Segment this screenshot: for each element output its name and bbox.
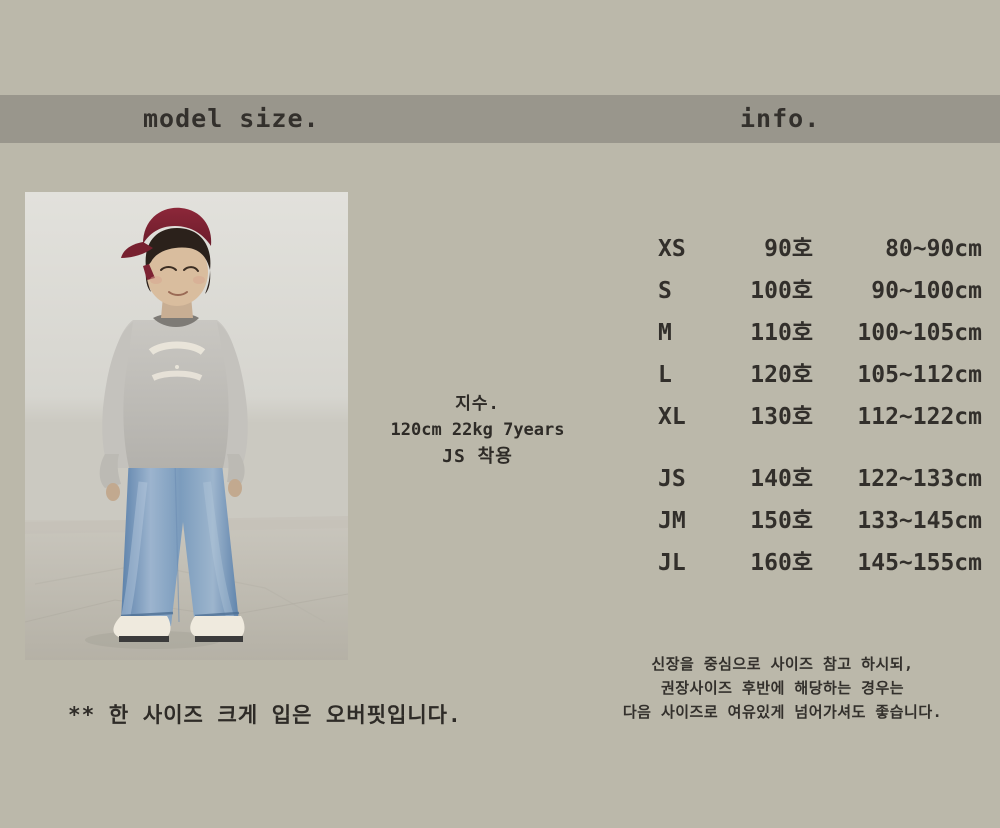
size-code: XL bbox=[658, 396, 718, 438]
size-range: 112~122cm bbox=[822, 396, 982, 438]
size-code: JL bbox=[658, 542, 718, 584]
size-code: JM bbox=[658, 500, 718, 542]
size-ho: 160호 bbox=[718, 542, 813, 584]
size-code: L bbox=[658, 354, 718, 396]
size-ho: 90호 bbox=[718, 228, 813, 270]
overfit-note: ** 한 사이즈 크게 입은 오버핏입니다. bbox=[68, 700, 462, 730]
size-range: 90~100cm bbox=[822, 270, 982, 312]
size-range: 133~145cm bbox=[822, 500, 982, 542]
model-caption: 지수. 120cm 22kg 7years JS 착용 bbox=[365, 392, 590, 471]
table-row: XS 90호 80~90cm bbox=[650, 228, 980, 270]
model-measurements: 120cm 22kg 7years bbox=[365, 417, 590, 443]
size-ho: 100호 bbox=[718, 270, 813, 312]
page-title-info: info. bbox=[740, 100, 820, 138]
page-title-model-size: model size. bbox=[143, 100, 320, 138]
size-range: 145~155cm bbox=[822, 542, 982, 584]
model-name: 지수. bbox=[365, 392, 590, 417]
sizing-guidance-line-2: 권장사이즈 후반에 해당하는 경우는 bbox=[585, 676, 980, 700]
size-ho: 150호 bbox=[718, 500, 813, 542]
sizing-guidance-note: 신장을 중심으로 사이즈 참고 하시되, 권장사이즈 후반에 해당하는 경우는 … bbox=[585, 652, 980, 724]
table-row: L 120호 105~112cm bbox=[650, 354, 980, 396]
table-row: S 100호 90~100cm bbox=[650, 270, 980, 312]
size-range: 100~105cm bbox=[822, 312, 982, 354]
model-photo bbox=[25, 192, 348, 660]
size-ho: 120호 bbox=[718, 354, 813, 396]
size-code: S bbox=[658, 270, 718, 312]
size-range: 122~133cm bbox=[822, 458, 982, 500]
size-ho: 130호 bbox=[718, 396, 813, 438]
size-guide-page: model size. info. bbox=[0, 0, 1000, 828]
size-code: XS bbox=[658, 228, 718, 270]
model-wearing-size: JS 착용 bbox=[365, 443, 590, 471]
table-row: JL 160호 145~155cm bbox=[650, 542, 980, 584]
table-row: JS 140호 122~133cm bbox=[650, 458, 980, 500]
size-code: M bbox=[658, 312, 718, 354]
size-range: 80~90cm bbox=[822, 228, 982, 270]
table-row: JM 150호 133~145cm bbox=[650, 500, 980, 542]
size-ho: 140호 bbox=[718, 458, 813, 500]
table-row: M 110호 100~105cm bbox=[650, 312, 980, 354]
size-code: JS bbox=[658, 458, 718, 500]
size-range: 105~112cm bbox=[822, 354, 982, 396]
size-table: XS 90호 80~90cm S 100호 90~100cm M 110호 10… bbox=[650, 228, 980, 584]
table-row: XL 130호 112~122cm bbox=[650, 396, 980, 438]
sizing-guidance-line-1: 신장을 중심으로 사이즈 참고 하시되, bbox=[585, 652, 980, 676]
sizing-guidance-line-3: 다음 사이즈로 여유있게 넘어가셔도 좋습니다. bbox=[585, 700, 980, 724]
size-ho: 110호 bbox=[718, 312, 813, 354]
